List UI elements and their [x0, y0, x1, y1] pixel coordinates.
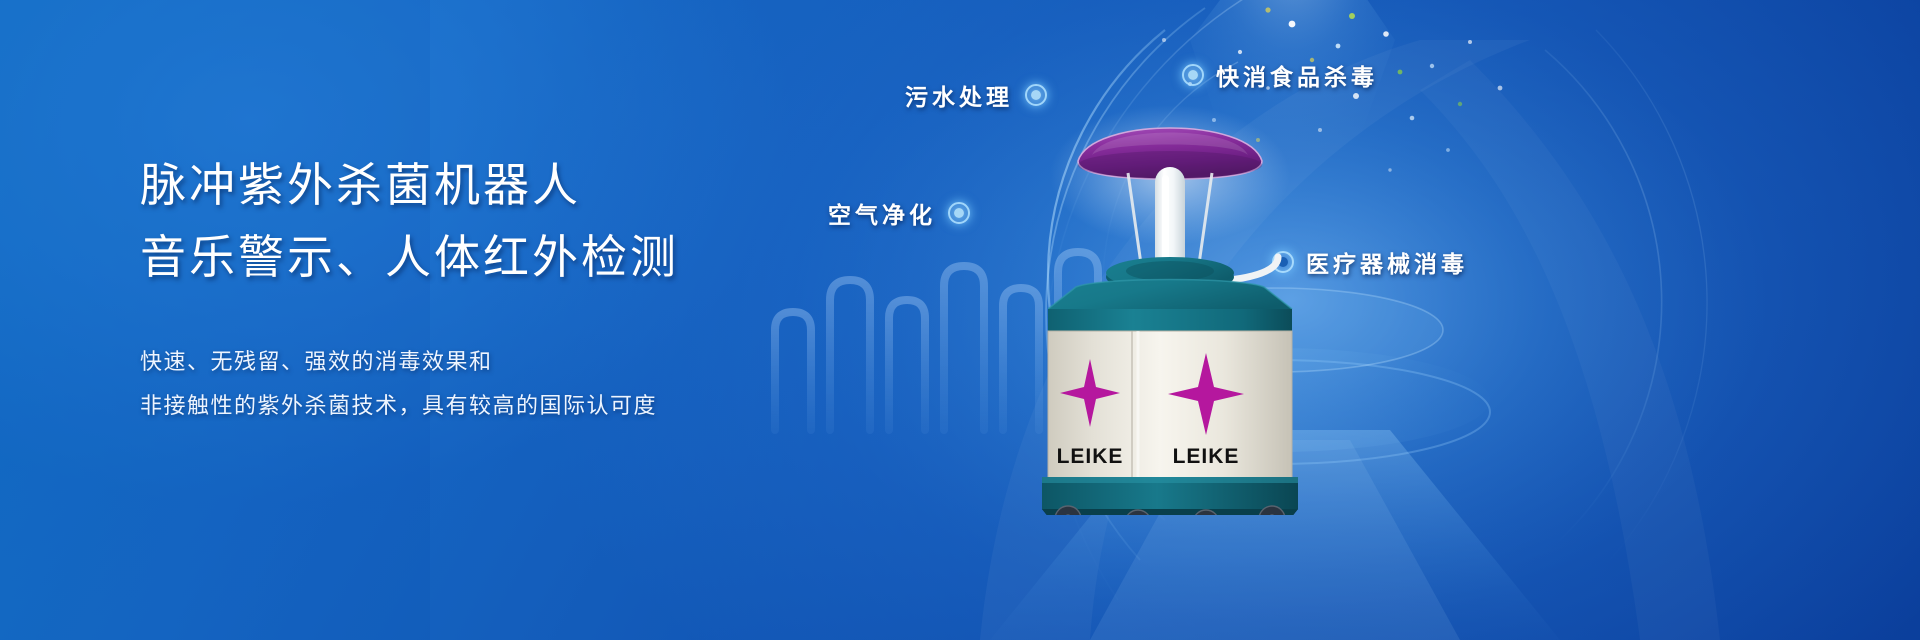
uv-sterilization-robot-illustration: LEIKE LEIKE [1020, 95, 1320, 515]
brand-wordmark-left: LEIKE [1057, 445, 1124, 468]
ring-node-icon [1182, 64, 1204, 86]
ring-node-icon [948, 202, 970, 224]
feature-label-food-sterilization: 快消食品杀毒 [1182, 58, 1378, 92]
feature-label-air-purification: 空气净化 [828, 196, 970, 230]
feature-label-text: 污水处理 [905, 78, 1013, 112]
subtitle-block: 快速、无残留、强效的消毒效果和 非接触性的紫外杀菌技术，具有较高的国际认可度 [140, 340, 900, 428]
headline-block: 脉冲紫外杀菌机器人 音乐警示、人体红外检测 快速、无残留、强效的消毒效果和 非接… [140, 150, 900, 428]
device-base [1042, 477, 1298, 515]
page-title-line2: 音乐警示、人体红外检测 [140, 222, 900, 294]
feature-label-text: 医疗器械消毒 [1306, 245, 1468, 279]
subtitle-line2: 非接触性的紫外杀菌技术，具有较高的国际认可度 [140, 384, 900, 428]
feature-label-text: 空气净化 [828, 196, 936, 230]
subtitle-line1: 快速、无残留、强效的消毒效果和 [140, 340, 900, 384]
device-top-deck [1048, 257, 1292, 333]
feature-label-text: 快消食品杀毒 [1216, 58, 1378, 92]
banner-root: 脉冲紫外杀菌机器人 音乐警示、人体红外检测 快速、无残留、强效的消毒效果和 非接… [0, 0, 1920, 640]
brand-wordmark-right: LEIKE [1173, 445, 1240, 468]
page-title-line1: 脉冲紫外杀菌机器人 [140, 150, 900, 222]
